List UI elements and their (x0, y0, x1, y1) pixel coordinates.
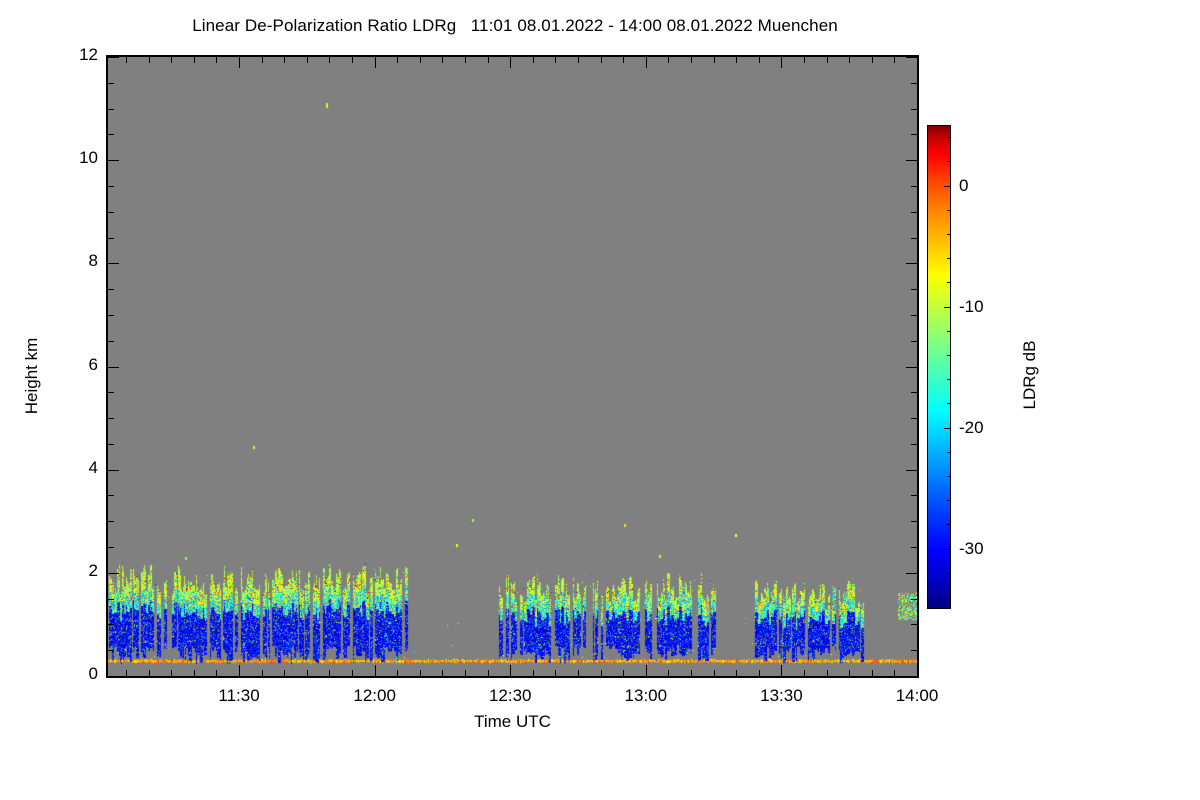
y-tick-label: 2 (89, 561, 98, 581)
y-tick (911, 315, 917, 316)
x-tick (126, 670, 127, 676)
y-tick (906, 470, 917, 471)
x-tick (668, 670, 669, 676)
x-tick (872, 57, 873, 63)
y-tick (108, 289, 114, 290)
x-tick (442, 57, 443, 63)
x-tick (465, 670, 466, 676)
y-tick (911, 495, 917, 496)
x-tick (397, 670, 398, 676)
colorbar-tick (947, 258, 951, 259)
colorbar-tick-label: -10 (959, 297, 984, 317)
colorbar-tick (947, 500, 951, 501)
x-tick (375, 57, 376, 68)
x-tick (804, 670, 805, 676)
y-tick (911, 650, 917, 651)
x-tick (736, 670, 737, 676)
colorbar-tick (947, 161, 951, 162)
x-axis-title: Time UTC (106, 712, 919, 732)
y-axis-title: Height km (22, 306, 42, 446)
y-tick (911, 289, 917, 290)
colorbar-tick (944, 549, 951, 550)
y-tick (108, 263, 119, 264)
y-tick (108, 418, 114, 419)
figure-title: Linear De-Polarization Ratio LDRg 11:01 … (0, 16, 1030, 36)
x-tick (781, 665, 782, 676)
x-tick (194, 57, 195, 63)
x-tick (397, 57, 398, 63)
y-tick (108, 134, 114, 135)
y-tick (911, 212, 917, 213)
y-tick (108, 57, 119, 58)
x-tick (849, 670, 850, 676)
colorbar-tick (944, 307, 951, 308)
x-tick (623, 670, 624, 676)
x-tick (623, 57, 624, 63)
colorbar-tick (947, 379, 951, 380)
y-tick (108, 367, 119, 368)
y-tick (911, 238, 917, 239)
y-tick-label: 10 (79, 148, 98, 168)
y-tick (911, 547, 917, 548)
x-tick (510, 665, 511, 676)
y-tick (108, 444, 114, 445)
y-tick (108, 650, 114, 651)
y-tick (108, 495, 114, 496)
x-tick (894, 57, 895, 63)
y-tick (108, 160, 119, 161)
x-tick (329, 670, 330, 676)
x-tick (917, 57, 918, 68)
y-tick-label: 8 (89, 251, 98, 271)
colorbar: 0-10-20-30 (927, 125, 951, 609)
y-tick (906, 160, 917, 161)
y-tick (108, 624, 114, 625)
y-tick-label: 0 (89, 664, 98, 684)
x-tick (668, 57, 669, 63)
x-tick-label: 13:30 (760, 686, 803, 706)
y-tick (911, 624, 917, 625)
y-tick (911, 444, 917, 445)
colorbar-tick (947, 210, 951, 211)
x-tick (759, 670, 760, 676)
y-tick-label: 12 (79, 45, 98, 65)
y-tick (108, 547, 114, 548)
x-tick (555, 57, 556, 63)
colorbar-tick-label: -20 (959, 418, 984, 438)
x-tick (488, 670, 489, 676)
y-tick (911, 341, 917, 342)
colorbar-tick (947, 597, 951, 598)
x-tick (171, 670, 172, 676)
y-tick-label: 6 (89, 355, 98, 375)
colorbar-gradient (927, 125, 951, 609)
x-tick (465, 57, 466, 63)
x-tick (533, 57, 534, 63)
x-tick (171, 57, 172, 63)
x-tick (239, 57, 240, 68)
colorbar-tick (944, 186, 951, 187)
y-tick (906, 573, 917, 574)
x-tick (284, 57, 285, 63)
x-tick-label: 11:30 (218, 686, 259, 706)
plot-area[interactable] (106, 55, 919, 678)
y-tick (906, 57, 917, 58)
x-tick-label: 12:30 (489, 686, 532, 706)
colorbar-tick (947, 137, 951, 138)
y-tick (108, 186, 114, 187)
x-tick (917, 665, 918, 676)
y-tick (911, 392, 917, 393)
colorbar-tick (947, 573, 951, 574)
y-tick (108, 341, 114, 342)
y-tick-label: 4 (89, 458, 98, 478)
x-tick (849, 57, 850, 63)
colorbar-tick (944, 428, 951, 429)
colorbar-title: LDRg dB (1020, 295, 1040, 455)
x-tick (442, 670, 443, 676)
colorbar-tick (947, 524, 951, 525)
x-tick (149, 57, 150, 63)
x-tick (307, 57, 308, 63)
x-tick (714, 57, 715, 63)
x-tick (827, 57, 828, 63)
colorbar-tick (947, 282, 951, 283)
colorbar-tick-label: -30 (959, 539, 984, 559)
colorbar-tick (947, 476, 951, 477)
x-tick-label: 12:00 (353, 686, 396, 706)
y-tick (108, 676, 119, 677)
x-tick (194, 670, 195, 676)
y-tick (108, 109, 114, 110)
x-tick (126, 57, 127, 63)
radar-ldr-figure: Linear De-Polarization Ratio LDRg 11:01 … (0, 0, 1200, 800)
y-tick (911, 83, 917, 84)
x-tick (601, 57, 602, 63)
y-axis-tick-labels: 024681012 (0, 55, 98, 678)
x-tick (714, 670, 715, 676)
x-tick (759, 57, 760, 63)
x-tick (488, 57, 489, 63)
y-tick (911, 599, 917, 600)
colorbar-tick (947, 331, 951, 332)
y-tick (108, 212, 114, 213)
y-tick (906, 367, 917, 368)
x-tick (284, 670, 285, 676)
y-tick (108, 599, 114, 600)
x-tick (646, 57, 647, 68)
y-tick (911, 134, 917, 135)
x-tick (872, 670, 873, 676)
y-tick (108, 470, 119, 471)
colorbar-tick (947, 355, 951, 356)
y-tick (108, 521, 114, 522)
x-tick (894, 670, 895, 676)
x-tick (736, 57, 737, 63)
colorbar-tick-label: 0 (959, 176, 968, 196)
y-tick (911, 186, 917, 187)
y-tick (108, 392, 114, 393)
x-tick (691, 670, 692, 676)
y-tick (108, 238, 114, 239)
x-tick (239, 665, 240, 676)
x-tick (510, 57, 511, 68)
x-tick (352, 57, 353, 63)
x-tick (578, 57, 579, 63)
x-tick (578, 670, 579, 676)
x-axis-tick-labels: 11:3012:0012:3013:0013:3014:00 (0, 686, 1200, 710)
x-tick-label: 14:00 (896, 686, 939, 706)
x-tick (149, 670, 150, 676)
x-tick (307, 670, 308, 676)
x-tick (216, 57, 217, 63)
x-tick (420, 670, 421, 676)
x-tick (827, 670, 828, 676)
x-tick (262, 670, 263, 676)
x-tick (804, 57, 805, 63)
x-tick (216, 670, 217, 676)
y-tick (911, 521, 917, 522)
x-tick (646, 665, 647, 676)
x-tick (329, 57, 330, 63)
x-tick (533, 670, 534, 676)
x-tick (691, 57, 692, 63)
x-tick (601, 670, 602, 676)
x-tick (352, 670, 353, 676)
x-tick (781, 57, 782, 68)
x-tick (555, 670, 556, 676)
colorbar-tick (947, 403, 951, 404)
y-tick (911, 418, 917, 419)
y-tick (906, 263, 917, 264)
x-tick (375, 665, 376, 676)
y-tick (108, 83, 114, 84)
colorbar-tick (947, 234, 951, 235)
y-tick (108, 315, 114, 316)
x-tick (262, 57, 263, 63)
y-tick (906, 676, 917, 677)
y-tick (911, 109, 917, 110)
x-tick-label: 13:00 (625, 686, 668, 706)
y-tick (108, 573, 119, 574)
colorbar-tick (947, 452, 951, 453)
x-tick (420, 57, 421, 63)
ldr-heatmap-canvas (108, 57, 917, 676)
